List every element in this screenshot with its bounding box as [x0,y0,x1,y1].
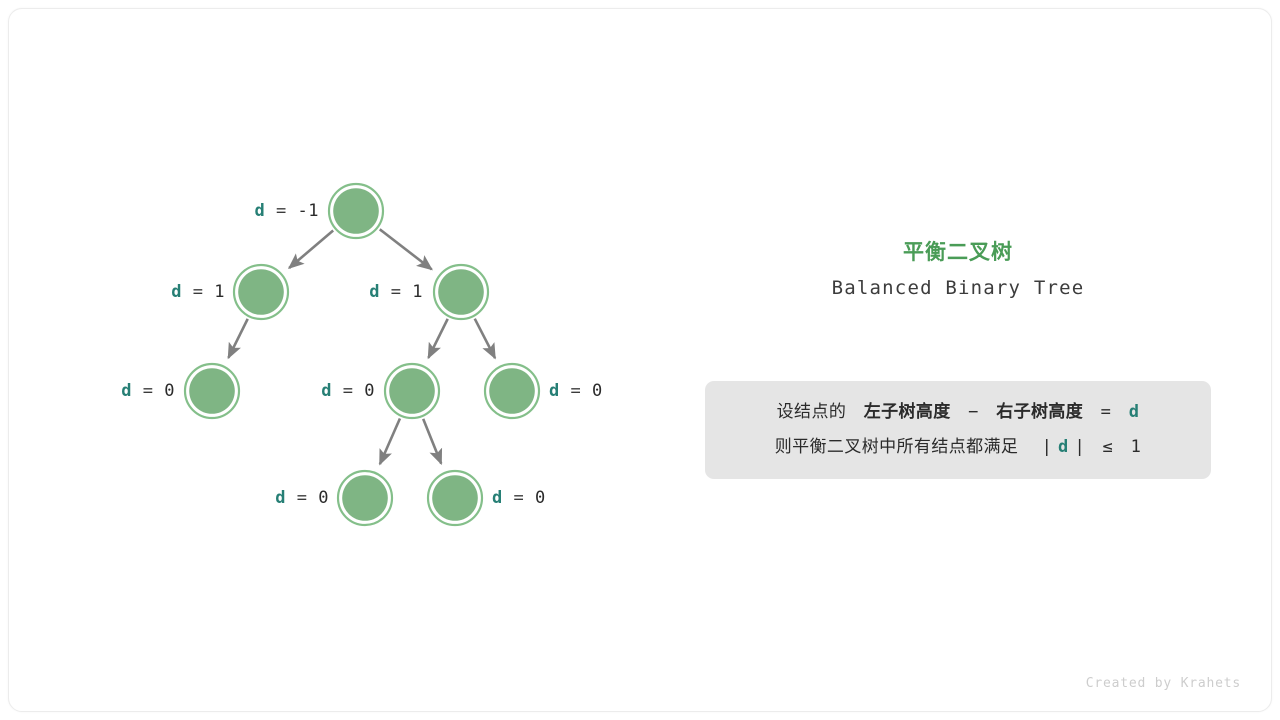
node-label-variable: d [492,488,503,508]
node-label-value: 0 [318,488,329,508]
variable-d-abs: d [1058,437,1069,457]
tree-edge [289,230,333,268]
node-label-variable: d [121,381,132,401]
info-panel: 平衡二叉树 Balanced Binary Tree [705,237,1211,303]
tree-node [338,471,392,525]
definition-line-2: 则平衡二叉树中所有结点都满足 | d | ≤ 1 [705,430,1211,465]
equals-operator: = [1101,402,1112,422]
node-balance-label: d = 1 [369,282,423,302]
node-balance-label: d = 0 [492,488,546,508]
page-subtitle: Balanced Binary Tree [705,273,1211,303]
balance-limit-value: 1 [1131,437,1142,457]
node-label-equals: = [265,201,297,221]
variable-d: d [1129,402,1140,422]
node-body [342,475,388,521]
node-balance-label: d = -1 [255,201,319,221]
diagram-card: d = -1d = 1d = 1d = 0d = 0d = 0d = 0d = … [8,8,1272,712]
node-body [333,188,379,234]
node-label-value: 1 [412,282,423,302]
minus-operator: − [968,402,979,422]
node-label-equals: = [286,488,318,508]
node-balance-label: d = 0 [121,381,175,401]
node-body [489,368,535,414]
definition-prefix: 设结点的 [777,402,847,422]
definition-box: 设结点的 左子树高度 − 右子树高度 = d 则平衡二叉树中所有结点都满足 | … [705,381,1211,479]
definition-line-1: 设结点的 左子树高度 − 右子树高度 = d [705,395,1211,430]
page-title: 平衡二叉树 [705,237,1211,267]
node-label-variable: d [275,488,286,508]
node-balance-label: d = 0 [275,488,329,508]
condition-prefix: 则平衡二叉树中所有结点都满足 [775,437,1019,457]
tree-node [234,265,288,319]
node-body [238,269,284,315]
tree-edge [423,419,441,464]
node-balance-label: d = 0 [549,381,603,401]
less-equal-operator: ≤ [1103,437,1114,457]
tree-edge [228,319,247,358]
node-body [389,368,435,414]
tree-edge [380,418,400,464]
credit-text: Created by Krahets [1086,676,1241,691]
tree-node [434,265,488,319]
node-label-variable: d [369,282,380,302]
abs-bar-close: | [1074,437,1085,457]
node-label-value: 0 [364,381,375,401]
node-body [189,368,235,414]
node-label-value: 0 [535,488,546,508]
node-label-variable: d [171,282,182,302]
node-label-value: 1 [214,282,225,302]
tree-nodes [185,184,539,525]
node-label-variable: d [549,381,560,401]
node-label-equals: = [503,488,535,508]
node-label-equals: = [380,282,412,302]
tree-edge [380,229,432,269]
term-left-subtree-height: 左子树高度 [864,402,951,422]
node-body [438,269,484,315]
tree-node [385,364,439,418]
node-balance-label: d = 0 [321,381,375,401]
node-label-variable: d [321,381,332,401]
node-label-equals: = [182,282,214,302]
tree-node [185,364,239,418]
tree-node [428,471,482,525]
node-label-equals: = [560,381,592,401]
tree-node [485,364,539,418]
term-right-subtree-height: 右子树高度 [996,402,1083,422]
node-body [432,475,478,521]
tree-edge [428,319,447,358]
tree-edge [475,319,495,358]
node-balance-label: d = 1 [171,282,225,302]
node-label-equals: = [132,381,164,401]
abs-bar-open: | [1042,437,1053,457]
node-label-value: 0 [164,381,175,401]
tree-node [329,184,383,238]
node-label-equals: = [332,381,364,401]
node-label-variable: d [255,201,266,221]
binary-tree-diagram [9,9,1272,712]
node-label-value: 0 [592,381,603,401]
node-label-value: -1 [298,201,319,221]
